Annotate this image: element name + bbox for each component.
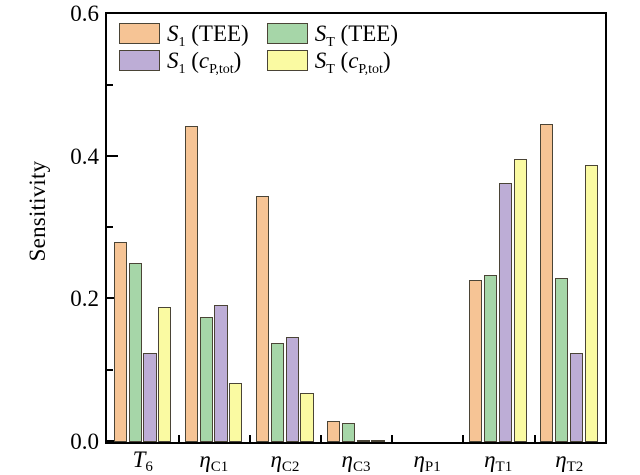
- plot-frame: S1 (TEE)ST (TEE)S1 (cP,tot)ST (cP,tot): [105, 12, 607, 444]
- legend: S1 (TEE)ST (TEE)S1 (cP,tot)ST (cP,tot): [115, 20, 402, 74]
- legend-label-s1-cptot: S1 (cP,tot): [167, 49, 241, 72]
- y-tick-major-2: [107, 155, 118, 157]
- y-tick-label-2: 0.4: [0, 145, 99, 168]
- x-tick-4: [391, 435, 393, 442]
- bar-ηC2-series-1: [271, 343, 284, 442]
- bar-T6-series-2: [143, 353, 156, 442]
- bar-ηC2-series-3: [300, 393, 313, 442]
- bar-ηC3-series-1: [342, 423, 355, 442]
- bar-ηC1-series-1: [200, 317, 213, 442]
- bar-ηT2-series-1: [555, 278, 568, 442]
- bar-ηC1-series-2: [214, 305, 227, 442]
- legend-entry-st-cptot[interactable]: ST (cP,tot): [267, 49, 398, 72]
- x-tick-2: [249, 435, 251, 442]
- legend-entry-st-tee[interactable]: ST (TEE): [267, 22, 398, 45]
- bar-T6-series-0: [114, 242, 127, 442]
- y-tick-label-1: 0.2: [0, 287, 99, 310]
- y-tick-minor-2: [107, 84, 113, 86]
- legend-label-st-cptot: ST (cP,tot): [315, 49, 391, 72]
- bar-ηC1-series-3: [229, 383, 242, 442]
- legend-swatch-st-tee: [267, 23, 308, 44]
- y-tick-major-3: [107, 12, 118, 14]
- bar-ηC3-series-0: [327, 421, 340, 442]
- y-tick-label-3: 0.6: [0, 2, 99, 25]
- bar-T6-series-1: [129, 263, 142, 442]
- legend-swatch-st-cptot: [267, 50, 308, 71]
- bar-ηT1-series-2: [499, 183, 512, 442]
- legend-label-st-tee: ST (TEE): [315, 22, 398, 45]
- legend-swatch-s1-tee: [119, 23, 160, 44]
- sensitivity-bar-chart: Sensitivity 0.0 0.2 0.4 0.6 S1 (TEE)ST (…: [0, 0, 640, 471]
- bar-ηC3-series-3: [371, 440, 384, 442]
- bar-ηC2-series-2: [286, 337, 299, 442]
- bar-ηT1-series-0: [469, 280, 482, 442]
- plot-area: [107, 14, 605, 442]
- bar-T6-series-3: [158, 307, 171, 442]
- x-tick-6: [534, 435, 536, 442]
- bar-ηC1-series-0: [185, 126, 198, 442]
- bar-ηT2-series-3: [585, 165, 598, 442]
- x-tick-3: [320, 435, 322, 442]
- bar-ηT1-series-3: [514, 159, 527, 442]
- bar-ηC2-series-0: [256, 196, 269, 442]
- legend-label-s1-tee: S1 (TEE): [167, 22, 249, 45]
- x-tick-5: [462, 435, 464, 442]
- legend-swatch-s1-cptot: [119, 50, 160, 71]
- legend-entry-s1-cptot[interactable]: S1 (cP,tot): [119, 49, 249, 72]
- y-axis-title: Sensitivity: [25, 111, 51, 311]
- bar-ηC3-series-2: [357, 440, 370, 442]
- x-tick-1: [178, 435, 180, 442]
- y-tick-minor-1: [107, 226, 113, 228]
- x-tick-label-ηT2: ηT2: [509, 448, 629, 471]
- y-tick-minor-0: [107, 369, 113, 371]
- bar-ηT1-series-1: [484, 275, 497, 442]
- bar-ηT2-series-2: [570, 353, 583, 442]
- legend-entry-s1-tee[interactable]: S1 (TEE): [119, 22, 249, 45]
- bar-ηT2-series-0: [540, 124, 553, 442]
